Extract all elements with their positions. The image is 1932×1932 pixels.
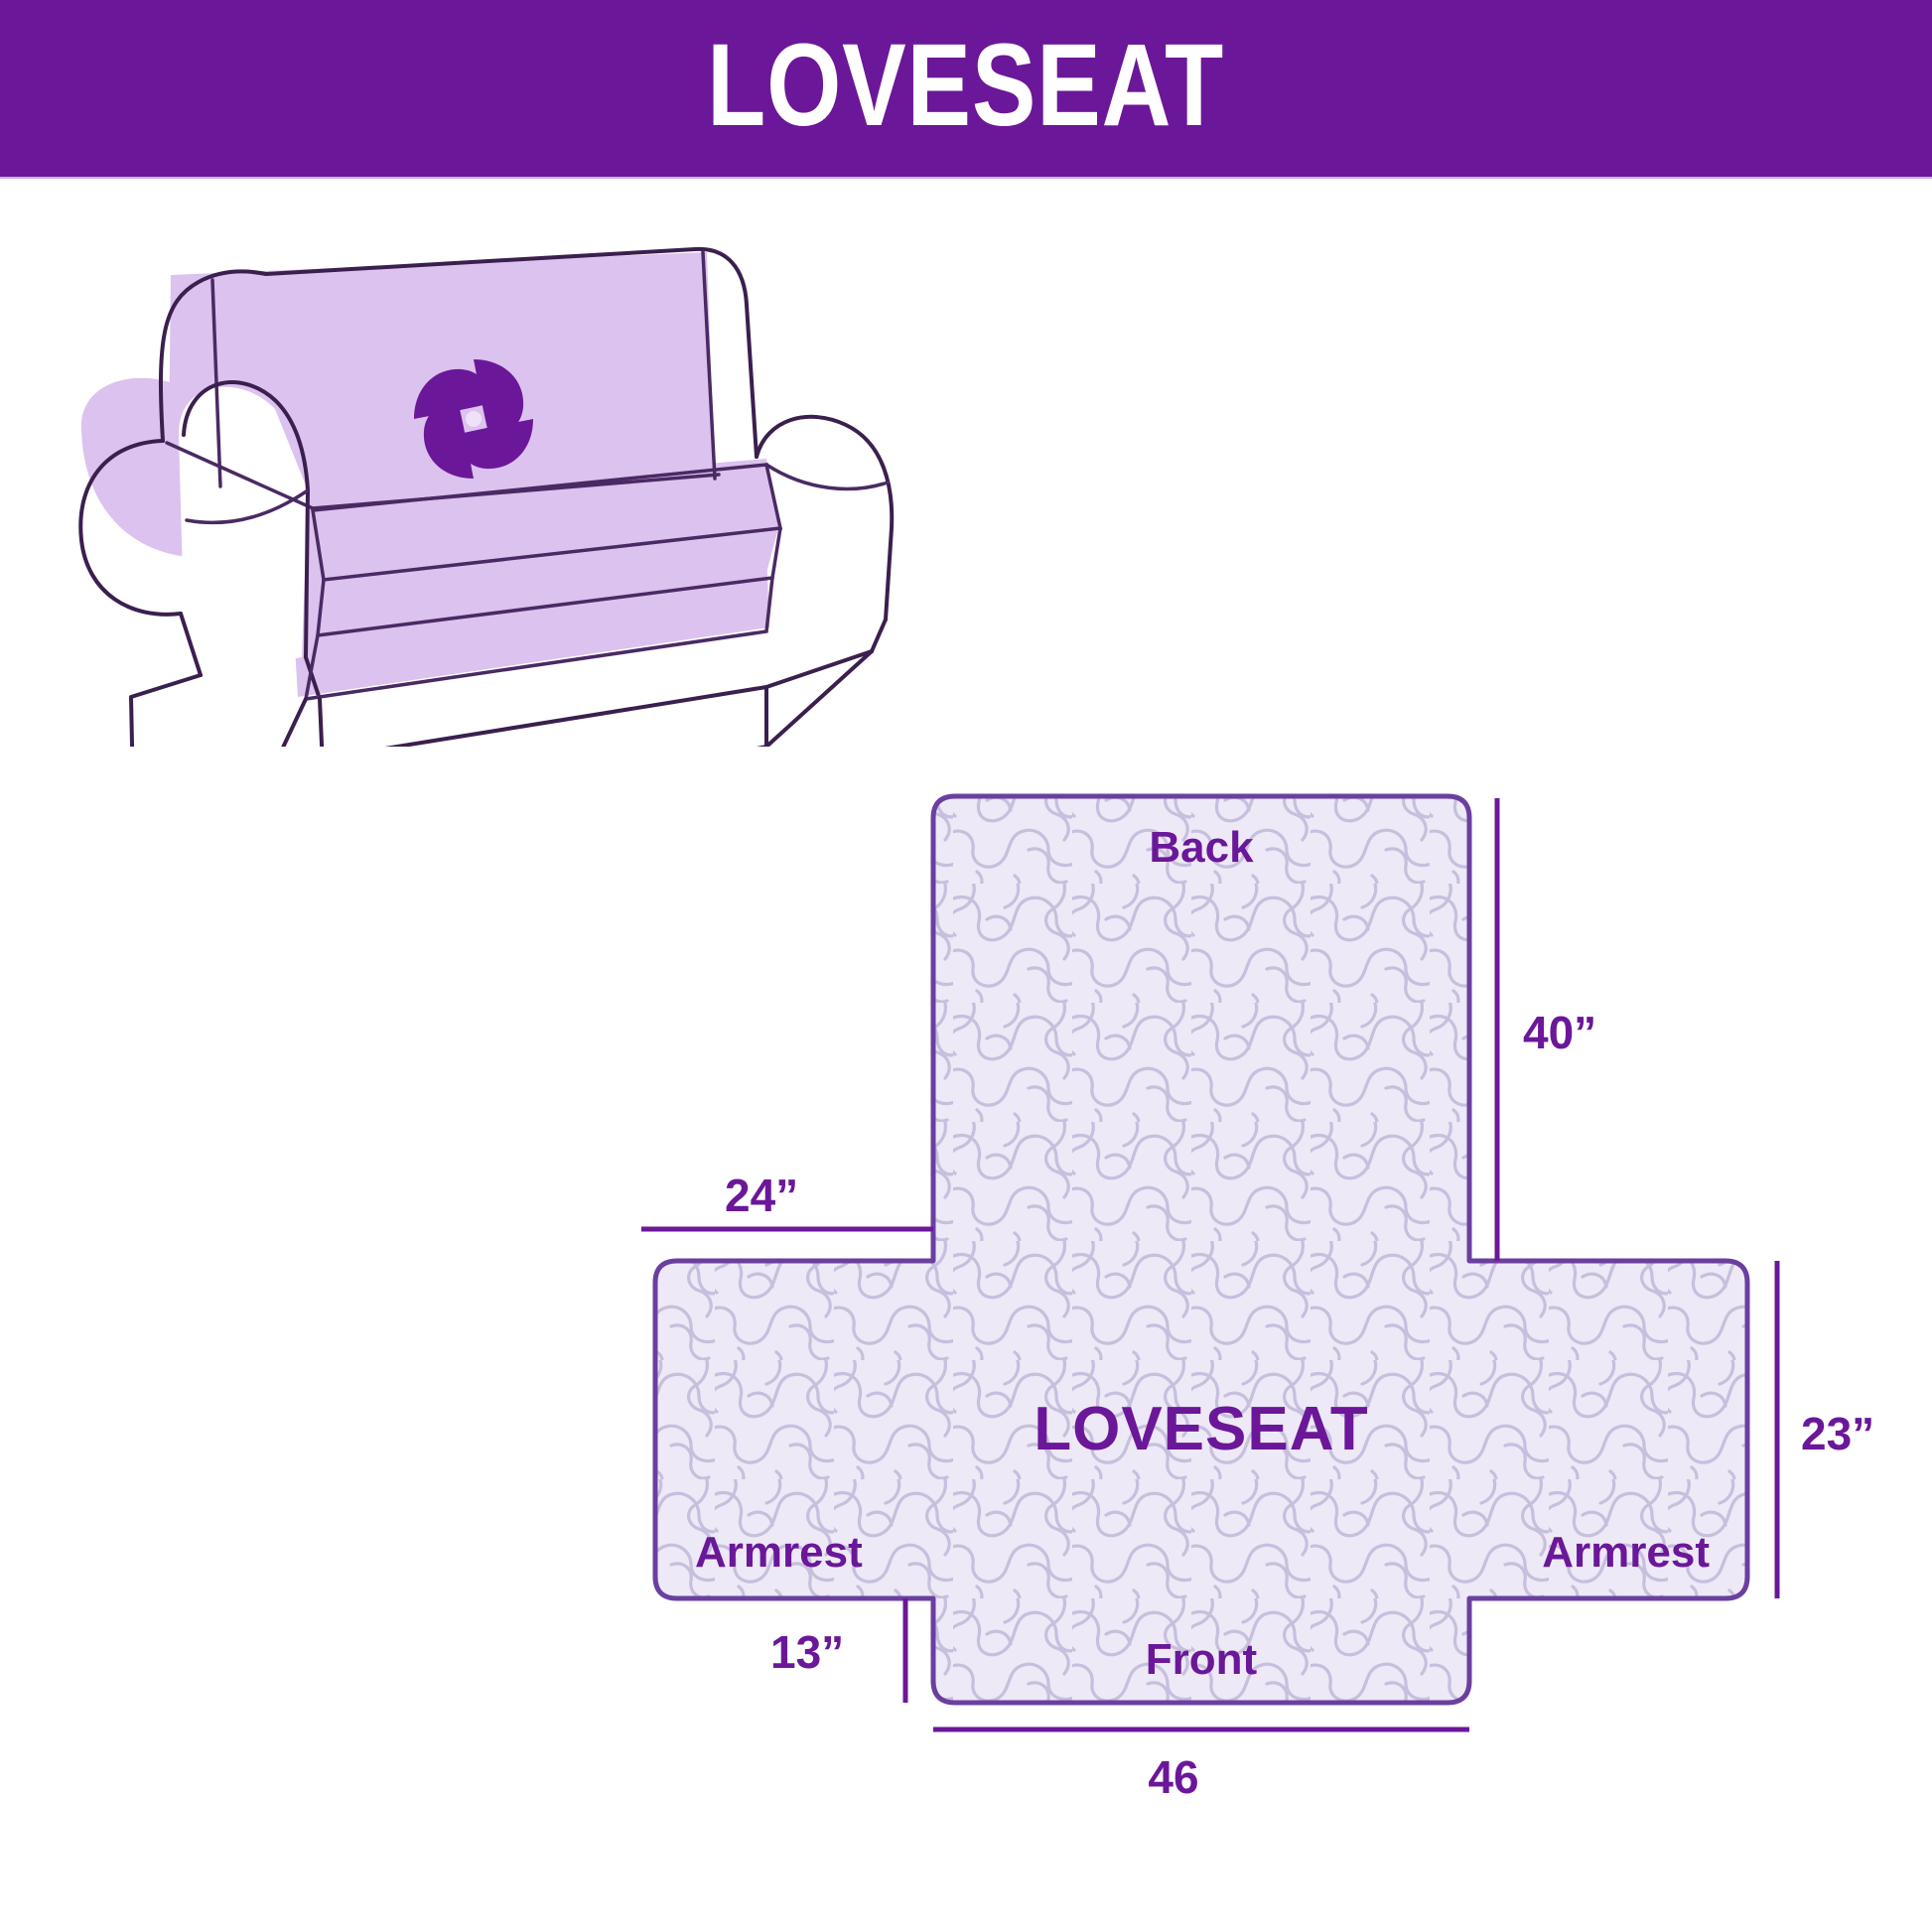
dimension-label-46: 46	[1148, 1751, 1198, 1803]
page-title: LOVESEAT	[708, 27, 1225, 144]
header-banner: LOVESEAT	[0, 0, 1932, 177]
dimension-label-23: 23”	[1801, 1408, 1874, 1459]
dimension-label-13: 13”	[770, 1626, 844, 1678]
panel-label-loveseat: LOVESEAT	[1034, 1395, 1369, 1463]
panel-label-armrest-right: Armrest	[1542, 1528, 1710, 1577]
dimension-armrest-height: 23”	[1777, 1261, 1874, 1598]
dimension-label-24: 24”	[725, 1170, 798, 1221]
dimension-front-height: 13”	[770, 1598, 905, 1703]
loveseat-illustration: .ol{fill:none;stroke:#3B1F4E;stroke-widt…	[71, 230, 945, 747]
panel-label-back: Back	[1149, 823, 1254, 872]
dimension-back-width: 24”	[641, 1170, 933, 1229]
loveseat-pattern-diagram: .panel{fill:url(#stipple);stroke:#6B3FA0…	[596, 764, 1932, 1857]
dimension-label-40: 40”	[1523, 1007, 1596, 1058]
panel-label-front: Front	[1146, 1635, 1258, 1684]
panel-label-armrest-left: Armrest	[695, 1528, 863, 1577]
dimension-front-width: 46	[933, 1729, 1469, 1803]
dimension-back-height: 40”	[1497, 798, 1596, 1261]
